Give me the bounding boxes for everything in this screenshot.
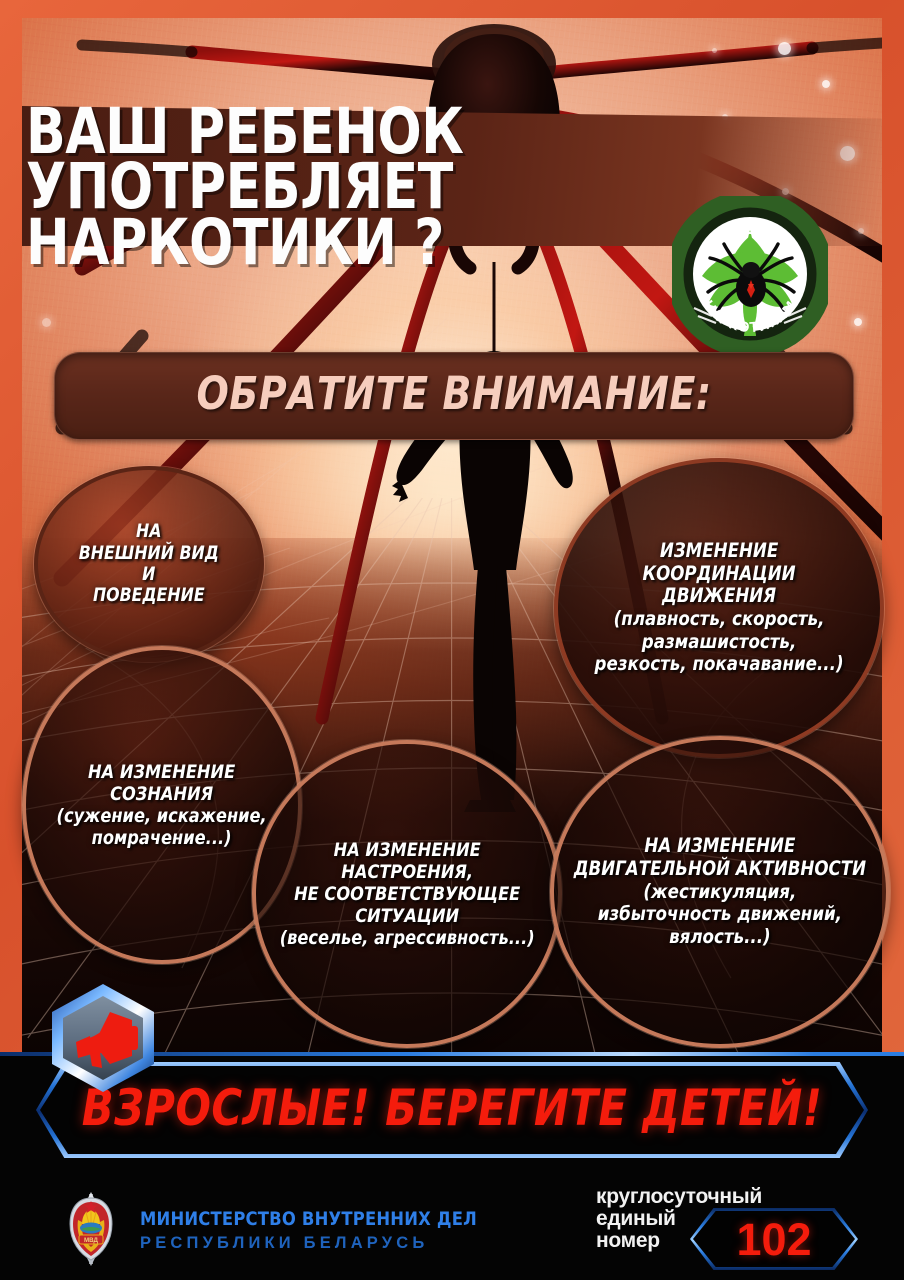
mvd-belarus-emblem: МВД xyxy=(62,1192,120,1266)
bubble-motor-activity: НА ИЗМЕНЕНИЕ ДВИГАТЕЛЬНОЙ АКТИВНОСТИ (же… xyxy=(550,736,890,1048)
bubble-appearance-text: НА ВНЕШНИЙ ВИД И ПОВЕДЕНИЕ xyxy=(79,521,219,607)
no-drugs-emblem: НЕТ НАРКОТИКАМ xyxy=(672,196,828,352)
attention-banner-text: ОБРАТИТЕ ВНИМАНИЕ: xyxy=(79,367,829,420)
ministry-line-2: РЕСПУБЛИКИ БЕЛАРУСЬ xyxy=(140,1234,491,1253)
bubble-appearance: НА ВНЕШНИЙ ВИД И ПОВЕДЕНИЕ xyxy=(34,466,264,662)
attention-banner: ОБРАТИТЕ ВНИМАНИЕ: xyxy=(54,352,854,440)
bubble-coordination: ИЗМЕНЕНИЕ КООРДИНАЦИИ ДВИЖЕНИЯ (плавност… xyxy=(554,458,884,758)
ministry-line-1: МИНИСТЕРСТВО ВНУТРЕННИХ ДЕЛ xyxy=(140,1208,477,1230)
bubble-coordination-text: ИЗМЕНЕНИЕ КООРДИНАЦИИ ДВИЖЕНИЯ (плавност… xyxy=(594,540,843,676)
ministry-name: МИНИСТЕРСТВО ВНУТРЕННИХ ДЕЛ РЕСПУБЛИКИ Б… xyxy=(140,1208,491,1253)
warning-banner: ВЗРОСЛЫЕ! БЕРЕГИТЕ ДЕТЕЙ! xyxy=(36,1062,868,1158)
hotline-number-badge[interactable]: 102 xyxy=(690,1208,858,1270)
svg-text:МВД: МВД xyxy=(84,1237,99,1244)
megaphone-badge xyxy=(46,982,160,1094)
hotline-number: 102 xyxy=(690,1214,858,1266)
bubble-mood-text: НА ИЗМЕНЕНИЕ НАСТРОЕНИЯ, НЕ СООТВЕТСТВУЮ… xyxy=(280,839,535,949)
bubble-consciousness-text: НА ИЗМЕНЕНИЕ СОЗНАНИЯ (сужение, искажени… xyxy=(57,761,267,849)
bubble-mood: НА ИЗМЕНЕНИЕ НАСТРОЕНИЯ, НЕ СООТВЕТСТВУЮ… xyxy=(252,740,562,1048)
hotline-label-1: круглосуточный xyxy=(596,1186,858,1208)
warning-banner-text: ВЗРОСЛЫЕ! БЕРЕГИТЕ ДЕТЕЙ! xyxy=(65,1079,839,1137)
bubble-motor-activity-text: НА ИЗМЕНЕНИЕ ДВИГАТЕЛЬНОЙ АКТИВНОСТИ (же… xyxy=(574,835,866,948)
poster-root: ВАШ РЕБЕНОК УПОТРЕБЛЯЕТ НАРКОТИКИ ? xyxy=(0,0,904,1280)
